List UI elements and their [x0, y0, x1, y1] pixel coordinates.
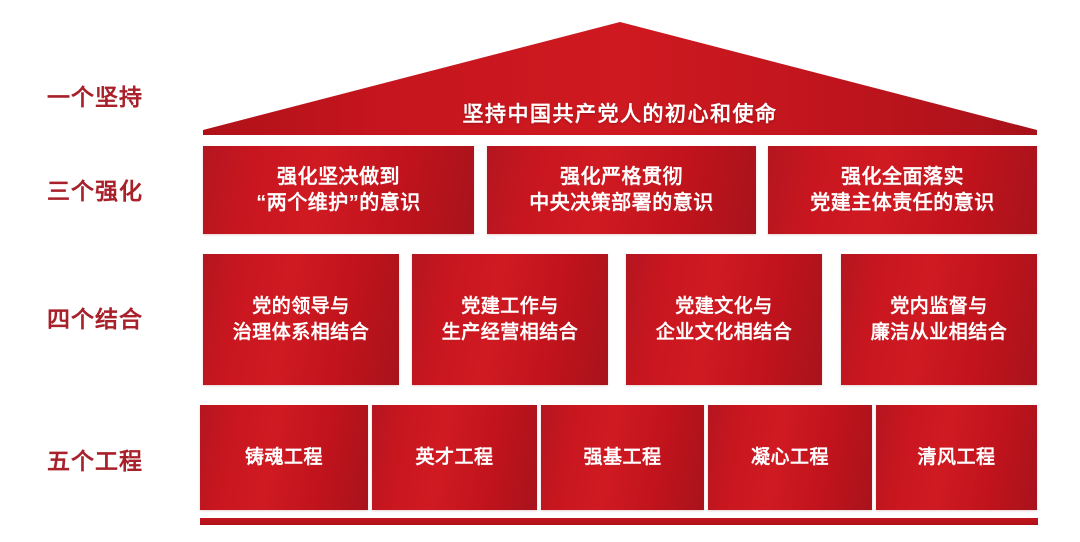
block-strengthening-2[interactable]: 强化严格贯彻 中央决策部署的意识	[487, 146, 756, 234]
block-strengthening-1[interactable]: 强化坚决做到 “两个维护”的意识	[203, 146, 474, 234]
block-line-2: 党建主体责任的意识	[810, 190, 995, 216]
block-project-2[interactable]: 英才工程	[372, 405, 537, 510]
diagram-canvas: 一个坚持 三个强化 四个结合 五个工程 坚持中国共产党人的初心和使命 强化坚决做…	[0, 0, 1080, 542]
block-line-1: 铸魂工程	[245, 445, 323, 470]
block-line-1: 党建文化与	[656, 294, 793, 319]
block-line-1: 英才工程	[415, 445, 493, 470]
block-strengthening-3[interactable]: 强化全面落实 党建主体责任的意识	[768, 146, 1037, 234]
block-line-1: 党内监督与	[871, 294, 1008, 319]
block-line-1: 强基工程	[583, 445, 661, 470]
block-line-1: 凝心工程	[751, 445, 829, 470]
block-project-5[interactable]: 清风工程	[876, 405, 1037, 510]
roof-triangle: 坚持中国共产党人的初心和使命	[203, 22, 1037, 135]
row-label-three-strengthenings: 三个强化	[0, 180, 190, 203]
block-line-1: 清风工程	[917, 445, 995, 470]
block-line-2: 廉洁从业相结合	[871, 320, 1008, 345]
block-project-3[interactable]: 强基工程	[541, 405, 704, 510]
block-line-1: 党的领导与	[233, 294, 370, 319]
row-label-five-projects: 五个工程	[0, 450, 190, 473]
block-combination-2[interactable]: 党建工作与 生产经营相结合	[412, 254, 608, 385]
foundation-bar	[200, 518, 1038, 525]
block-line-2: “两个维护”的意识	[256, 190, 421, 216]
block-line-2: 治理体系相结合	[233, 320, 370, 345]
row-label-four-combinations: 四个结合	[0, 308, 190, 331]
block-project-4[interactable]: 凝心工程	[708, 405, 872, 510]
block-line-2: 企业文化相结合	[656, 320, 793, 345]
block-line-1: 强化坚决做到	[256, 164, 421, 190]
block-line-1: 强化严格贯彻	[529, 164, 714, 190]
block-line-1: 党建工作与	[442, 294, 579, 319]
block-line-2: 中央决策部署的意识	[529, 190, 714, 216]
roof-text: 坚持中国共产党人的初心和使命	[203, 104, 1037, 125]
block-line-1: 强化全面落实	[810, 164, 995, 190]
block-combination-4[interactable]: 党内监督与 廉洁从业相结合	[841, 254, 1037, 385]
row-label-one-adherence: 一个坚持	[0, 86, 190, 109]
block-project-1[interactable]: 铸魂工程	[200, 405, 368, 510]
block-combination-1[interactable]: 党的领导与 治理体系相结合	[203, 254, 399, 385]
block-combination-3[interactable]: 党建文化与 企业文化相结合	[626, 254, 822, 385]
block-line-2: 生产经营相结合	[442, 320, 579, 345]
